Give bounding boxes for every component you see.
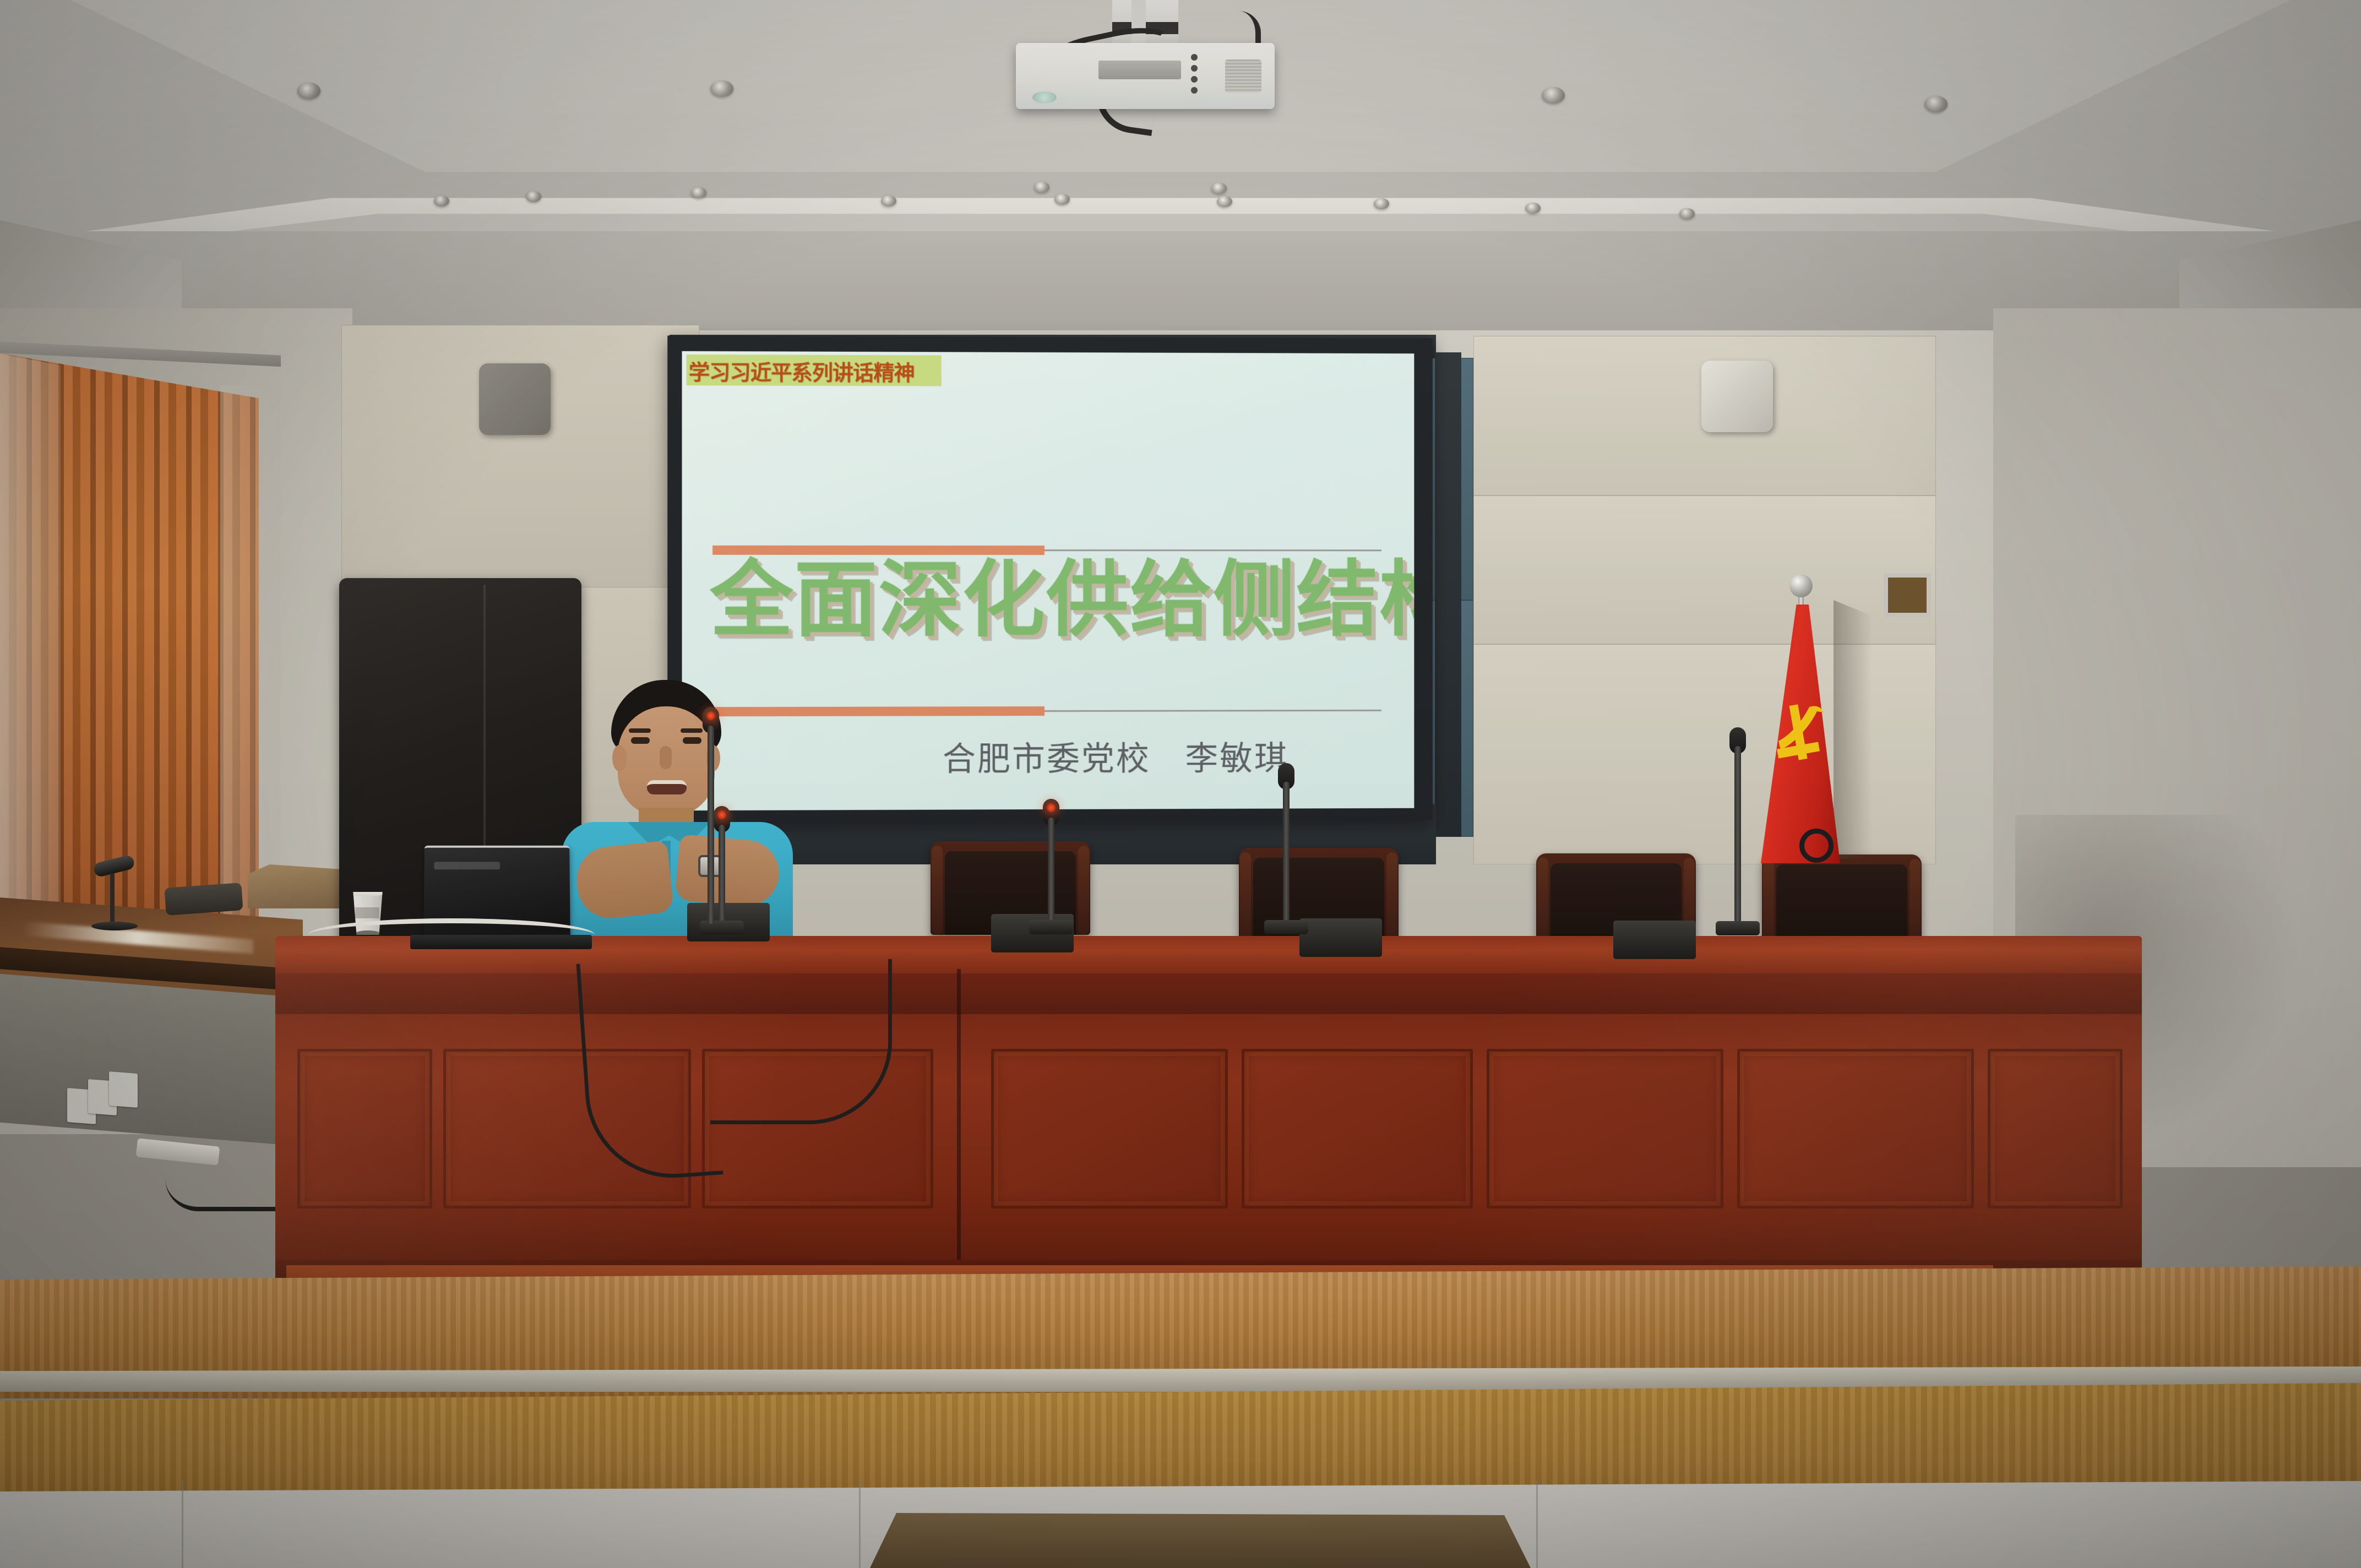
microphone-base-unit xyxy=(1613,921,1696,959)
white-cable-icon xyxy=(308,918,595,951)
presenter-mouth xyxy=(647,780,687,794)
ceiling-downlight xyxy=(1217,196,1232,207)
microphone-stem xyxy=(708,726,714,924)
ceiling-downlight xyxy=(1034,182,1049,193)
slide-rule-bottom xyxy=(712,710,1381,712)
cardboard-box xyxy=(248,864,347,908)
desk-seam xyxy=(957,969,961,1294)
desk-panel xyxy=(1988,1049,2123,1208)
wall-notice-frame xyxy=(1884,573,1931,617)
slide-author: 合肥市委党校 李敏琪 xyxy=(943,732,1289,781)
microphone-base xyxy=(91,922,138,930)
microphone-stem xyxy=(719,825,725,923)
presenter-eye xyxy=(683,737,701,744)
presenter-ear xyxy=(612,745,627,771)
projector-leds xyxy=(1191,54,1199,92)
projector-ports xyxy=(1098,61,1181,79)
presenter-eye xyxy=(631,737,650,744)
floor-tile-seam xyxy=(1536,1481,1538,1568)
wall-speaker-right xyxy=(1701,361,1773,432)
microphone-base-unit xyxy=(1299,918,1382,957)
flag-wall-shadow xyxy=(1834,600,1872,859)
slide-banner-text: 学习习近平系列讲话精神 xyxy=(687,355,915,385)
ceiling-downlight xyxy=(1542,87,1565,104)
ceiling-downlight xyxy=(691,187,706,198)
desk-panel xyxy=(1737,1049,1974,1208)
floor-tile-seam xyxy=(182,1481,183,1568)
power-outlet xyxy=(109,1071,138,1108)
conference-room-photo: 学习习近平系列讲话精神 全面深化供给侧结构性改革 合肥市委党校 李敏琪 二0一六… xyxy=(0,0,2361,1568)
slide-title: 全面深化供给侧结构性改革 xyxy=(710,557,1392,644)
microphone-base xyxy=(700,921,744,935)
ceiling-downlight xyxy=(1054,194,1070,205)
table-clutter xyxy=(164,883,243,916)
wall-panel-dark xyxy=(1435,352,1461,837)
desk-apron xyxy=(275,973,2142,1016)
projector-lens xyxy=(1032,91,1057,104)
ceiling-downlight xyxy=(526,191,541,202)
flag-finial xyxy=(1789,574,1813,597)
ceiling-downlight xyxy=(434,195,449,206)
ceiling-downlight xyxy=(881,195,896,206)
wall-speaker-left xyxy=(479,363,551,435)
conference-chair[interactable] xyxy=(1762,854,1922,948)
microphone-post xyxy=(110,873,115,925)
mic-cable-coil-icon xyxy=(1799,829,1834,863)
floor-tile-seam xyxy=(859,1481,861,1568)
microphone-stem xyxy=(1283,782,1290,922)
ceiling-downlight xyxy=(1374,198,1389,209)
microphone-base xyxy=(1029,920,1073,934)
ceiling-downlight xyxy=(1211,183,1227,194)
ceiling-downlight xyxy=(1525,203,1541,214)
ceiling-downlight xyxy=(297,83,320,99)
microphone-base xyxy=(1264,920,1308,934)
wall-sill-panel xyxy=(0,973,303,1146)
floor-dark-inlay xyxy=(870,1513,1531,1568)
presenter-eyebrow xyxy=(629,728,651,733)
presenter-eyebrow xyxy=(681,728,703,733)
slide-banner: 学习习近平系列讲话精神 xyxy=(687,355,942,386)
desk-panel xyxy=(991,1049,1228,1208)
slide-rule-top xyxy=(712,549,1381,552)
desk-cable-icon xyxy=(710,959,892,1124)
ceiling-downlight xyxy=(1679,208,1695,219)
presenter-nose xyxy=(660,746,672,769)
ceiling-downlight xyxy=(1924,96,1947,112)
microphone-base xyxy=(1716,921,1760,935)
table-microphone xyxy=(108,859,116,925)
conference-desk xyxy=(275,936,2142,1294)
desk-panel xyxy=(1242,1049,1473,1208)
microphone-stem xyxy=(1734,746,1741,923)
ceiling-downlight xyxy=(710,80,733,97)
desk-panel xyxy=(297,1049,432,1208)
desk-panel xyxy=(1487,1049,1723,1208)
microphone-stem xyxy=(1048,818,1054,922)
hammer-and-sickle-icon xyxy=(1769,688,1829,771)
projector xyxy=(1016,43,1275,109)
projector-vent xyxy=(1225,59,1261,92)
